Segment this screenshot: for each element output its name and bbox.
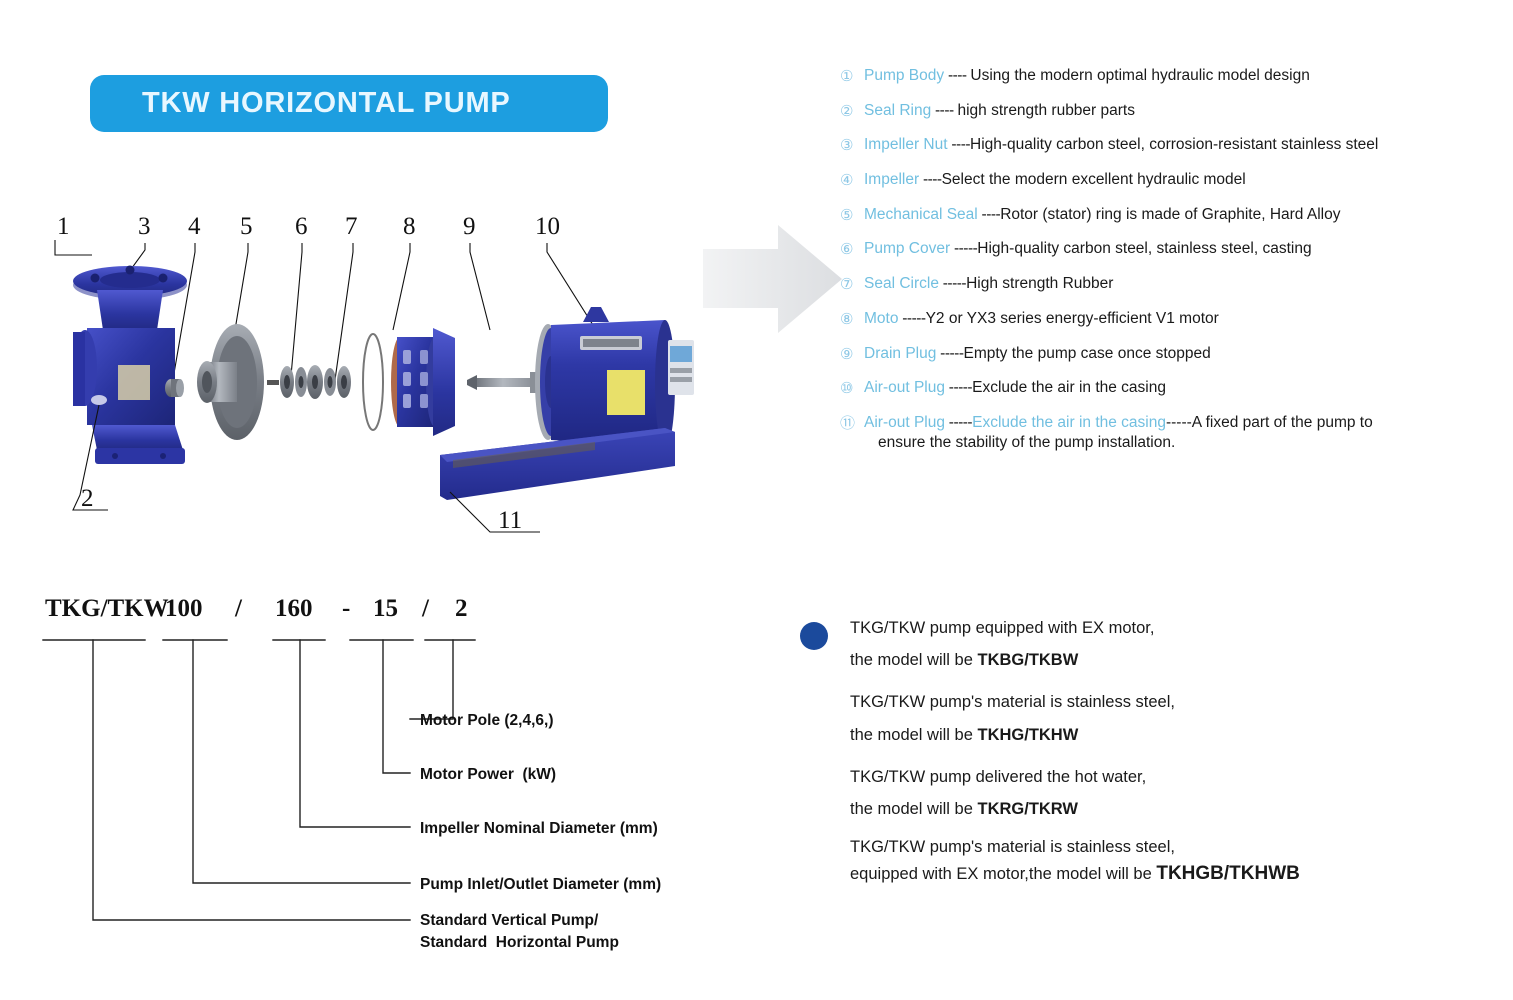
model-code-breakdown: TKG/TKW 100 / 160 - 15 / 2 Mot — [35, 595, 735, 975]
impeller-nut-part — [165, 379, 184, 397]
legend-description-1: Using the modern optimal hydraulic model… — [970, 67, 1309, 84]
model-naming-notes: TKG/TKW pump equipped with EX motor, the… — [800, 612, 1440, 898]
legend-description-8: Y2 or YX3 series energy-efficient V1 mot… — [926, 310, 1219, 327]
legend-number-3: ③ — [840, 135, 864, 155]
legend-text-3: Impeller Nut ----High-quality carbon ste… — [864, 135, 1378, 155]
callout-number-group: 1 3 4 5 6 7 8 9 10 — [57, 213, 560, 240]
legend-description-7: High strength Rubber — [966, 275, 1113, 292]
model-label-pump-type-line2: Standard Horizontal Pump — [420, 933, 619, 953]
callout-number-8: 8 — [403, 213, 416, 240]
callout-number-1: 1 — [57, 213, 70, 240]
legend-item-4: ④ Impeller ----Select the modern excelle… — [840, 170, 1505, 190]
legend-item-9: ⑨ Drain Plug -----Empty the pump case on… — [840, 344, 1505, 364]
pump-cover-part — [391, 328, 455, 436]
note-1-prefix: the model will be — [850, 651, 977, 669]
legend-part-name-6: Pump Cover — [864, 240, 950, 257]
callout-number-2: 2 — [81, 485, 94, 512]
legend-separator-3: ---- — [948, 136, 970, 153]
legend-number-1: ① — [840, 66, 864, 86]
model-label-inlet-outlet-diameter: Pump Inlet/Outlet Diameter (mm) — [420, 875, 661, 895]
note-4-line-2: equipped with EX motor,the model will be… — [850, 860, 1440, 889]
legend-separator-6: ----- — [950, 240, 977, 257]
model-label-motor-power: Motor Power (kW) — [420, 765, 556, 785]
note-3-line-2: the model will be TKRG/TKRW — [850, 793, 1440, 825]
legend-separator-8: ----- — [898, 310, 925, 327]
callout-number-10: 10 — [535, 213, 560, 240]
note-3-prefix: the model will be — [850, 800, 977, 818]
legend-number-7: ⑦ — [840, 274, 864, 294]
legend-description-4: Select the modern excellent hydraulic mo… — [942, 171, 1246, 188]
legend-description-2: high strength rubber parts — [957, 102, 1135, 119]
note-2-line-1: TKG/TKW pump's material is stainless ste… — [850, 686, 1440, 718]
callout-number-9: 9 — [463, 213, 476, 240]
legend-part-name-4: Impeller — [864, 171, 919, 188]
note-1-line-1: TKG/TKW pump equipped with EX motor, — [850, 612, 1440, 644]
bullet-dot-icon — [800, 622, 828, 650]
note-4-model-code: TKHGB/TKHWB — [1156, 863, 1300, 884]
callout-number-7: 7 — [345, 213, 358, 240]
note-2-prefix: the model will be — [850, 726, 977, 744]
legend-item-7: ⑦ Seal Circle -----High strength Rubber — [840, 274, 1505, 294]
legend-separator-9: ----- — [936, 345, 963, 362]
note-group-4: TKG/TKW pump's material is stainless ste… — [850, 835, 1440, 888]
right-arrow-icon — [700, 222, 845, 337]
legend-number-4: ④ — [840, 170, 864, 190]
legend-item-11: ⑪ Air-out Plug -----Exclude the air in t… — [840, 413, 1505, 453]
legend-part-name-9: Drain Plug — [864, 345, 936, 362]
legend-description-9: Empty the pump case once stopped — [964, 345, 1211, 362]
legend-separator-10: ----- — [945, 379, 972, 396]
legend-number-2: ② — [840, 101, 864, 121]
legend-separator-5: ---- — [978, 206, 1000, 223]
model-code-leader-lines — [35, 595, 735, 975]
legend-number-10: ⑩ — [840, 378, 864, 398]
note-group-2: TKG/TKW pump's material is stainless ste… — [850, 686, 1440, 750]
legend-text-7: Seal Circle -----High strength Rubber — [864, 274, 1113, 294]
legend-item-6: ⑥ Pump Cover -----High-quality carbon st… — [840, 239, 1505, 259]
legend-description-5: Rotor (stator) ring is made of Graphite,… — [1000, 206, 1340, 223]
legend-description-10: Exclude the air in the casing — [972, 379, 1166, 396]
legend-text-10: Air-out Plug -----Exclude the air in the… — [864, 378, 1166, 398]
callout-number-11-group: 11 — [450, 492, 540, 534]
legend-description-6: High-quality carbon steel, stainless ste… — [977, 240, 1311, 257]
note-3-model-code: TKRG/TKRW — [977, 800, 1078, 818]
note-1-model-code: TKBG/TKBW — [977, 651, 1078, 669]
legend-number-8: ⑧ — [840, 309, 864, 329]
legend-text-2: Seal Ring ---- high strength rubber part… — [864, 101, 1135, 121]
legend-separator-11: ----- — [945, 414, 972, 431]
legend-item-3: ③ Impeller Nut ----High-quality carbon s… — [840, 135, 1505, 155]
legend-description-11: -----A fixed part of the pump to — [1166, 414, 1373, 431]
legend-item-10: ⑩ Air-out Plug -----Exclude the air in t… — [840, 378, 1505, 398]
legend-text-1: Pump Body ---- Using the modern optimal … — [864, 66, 1310, 86]
callout-number-3: 3 — [138, 213, 151, 240]
legend-separator-7: ----- — [939, 275, 966, 292]
legend-number-9: ⑨ — [840, 344, 864, 364]
model-label-impeller-diameter: Impeller Nominal Diameter (mm) — [420, 819, 658, 839]
legend-text-6: Pump Cover -----High-quality carbon stee… — [864, 239, 1312, 259]
legend-separator-4: ---- — [919, 171, 941, 188]
legend-number-6: ⑥ — [840, 239, 864, 259]
legend-item-2: ② Seal Ring ---- high strength rubber pa… — [840, 101, 1505, 121]
pump-body-part — [73, 266, 187, 465]
legend-number-5: ⑤ — [840, 205, 864, 225]
page-title: TKW HORIZONTAL PUMP — [142, 87, 511, 120]
legend-part-name-2: Seal Ring — [864, 102, 931, 119]
legend-part-name-11: Air-out Plug — [864, 414, 945, 431]
legend-part-name-3: Impeller Nut — [864, 136, 948, 153]
model-label-motor-pole: Motor Pole (2,4,6,) — [420, 711, 554, 731]
callout-number-6: 6 — [295, 213, 308, 240]
impeller-part — [197, 324, 264, 440]
legend-separator-1: ---- — [944, 67, 970, 84]
mechanical-seal-part — [267, 365, 351, 399]
legend-item-8: ⑧ Moto -----Y2 or YX3 series energy-effi… — [840, 309, 1505, 329]
note-2-line-2: the model will be TKHG/TKHW — [850, 719, 1440, 751]
note-4-line-1: TKG/TKW pump's material is stainless ste… — [850, 835, 1440, 860]
page-title-banner: TKW HORIZONTAL PUMP — [90, 75, 608, 132]
legend-item-1: ① Pump Body ---- Using the modern optima… — [840, 66, 1505, 86]
exploded-pump-diagram: 1 3 4 5 6 7 8 9 10 — [35, 210, 705, 565]
legend-part-name-7: Seal Circle — [864, 275, 939, 292]
note-group-1: TKG/TKW pump equipped with EX motor, the… — [850, 612, 1440, 676]
legend-text-8: Moto -----Y2 or YX3 series energy-effici… — [864, 309, 1219, 329]
legend-text-11: Air-out Plug -----Exclude the air in the… — [864, 413, 1373, 453]
model-label-pump-type-line1: Standard Vertical Pump/ — [420, 911, 598, 931]
legend-description-3: High-quality carbon steel, corrosion-res… — [970, 136, 1378, 153]
legend-item-5: ⑤ Mechanical Seal ----Rotor (stator) rin… — [840, 205, 1505, 225]
callout-number-5: 5 — [240, 213, 253, 240]
legend-description-11-line2: ensure the stability of the pump install… — [864, 433, 1373, 453]
note-2-model-code: TKHG/TKHW — [977, 726, 1078, 744]
parts-legend-list: ① Pump Body ---- Using the modern optima… — [840, 66, 1505, 467]
note-3-line-1: TKG/TKW pump delivered the hot water, — [850, 761, 1440, 793]
note-1-line-2: the model will be TKBG/TKBW — [850, 644, 1440, 676]
legend-number-11: ⑪ — [840, 413, 864, 433]
callout-number-11: 11 — [498, 507, 522, 534]
legend-text-4: Impeller ----Select the modern excellent… — [864, 170, 1246, 190]
seal-circle-part — [363, 334, 383, 430]
callout-number-4: 4 — [188, 213, 201, 240]
legend-text-9: Drain Plug -----Empty the pump case once… — [864, 344, 1211, 364]
legend-part-name-1: Pump Body — [864, 67, 944, 84]
note-group-3: TKG/TKW pump delivered the hot water, th… — [850, 761, 1440, 825]
legend-part-name-8: Moto — [864, 310, 898, 327]
legend-part-name-5: Mechanical Seal — [864, 206, 978, 223]
note-4-prefix: equipped with EX motor,the model will be — [850, 865, 1156, 883]
motor-shaft-part — [467, 372, 545, 393]
legend-description-blue-11: Exclude the air in the casing — [972, 414, 1166, 431]
legend-separator-2: ---- — [931, 102, 957, 119]
legend-part-name-10: Air-out Plug — [864, 379, 945, 396]
legend-text-5: Mechanical Seal ----Rotor (stator) ring … — [864, 205, 1340, 225]
